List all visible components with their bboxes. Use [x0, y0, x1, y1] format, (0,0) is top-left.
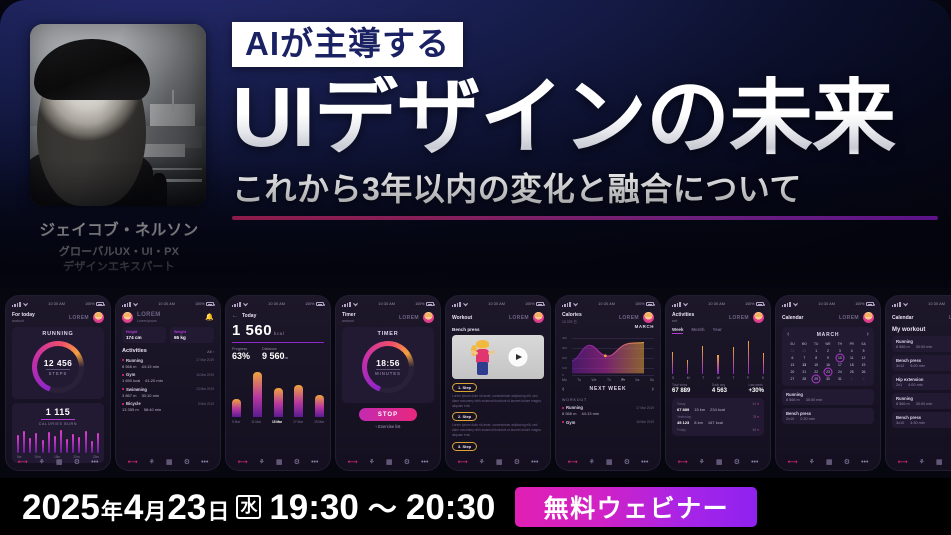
list-item[interactable]: Swimming13 Mar 2019 3 867 m30:10 min [122, 387, 214, 398]
list-item[interactable]: Gym16 Mar 2019 [562, 420, 654, 425]
dumbbell-icon[interactable]: ⟷ [458, 459, 468, 466]
phone-header-title: Calendar [782, 315, 803, 321]
distance-metric: Distance 9 560m [262, 347, 288, 361]
phone-header-title: Timer [342, 312, 356, 318]
footer-bar: 2025 年 4 月 23 日 水 19:30 〜 20:30 無料ウェビナー [0, 478, 951, 535]
steps-label: STEPS [49, 371, 68, 376]
gear-icon[interactable]: ⚙ [184, 459, 190, 466]
step-chip: 1. Step [452, 383, 477, 392]
more-icon[interactable]: ••• [861, 459, 868, 466]
step-chip: 2. Step [452, 412, 477, 421]
section-title: WORKOUT [562, 398, 654, 402]
dumbbell-icon[interactable]: ⟷ [788, 459, 798, 466]
timer-ring: 18:56 MINUTES [362, 341, 414, 393]
list-item[interactable]: Bicycle9 Mar 2019 13 355 m58:40 min [122, 401, 214, 412]
height-chip: Height 174 cm [122, 327, 166, 343]
more-icon[interactable]: ••• [421, 459, 428, 466]
brand-label: LOREM [399, 315, 419, 321]
gear-icon[interactable]: ⚙ [734, 459, 740, 466]
phone-mockup-my-workout[interactable]: 10:30 AM 100% Calendar LOREM My workout … [886, 296, 951, 470]
timer-label: MINUTES [375, 371, 401, 376]
speaker-role-line2: デザインエキスパート [30, 260, 208, 275]
phone-mockup-calendar[interactable]: 10:30 AM 100% Calendar LOREM ‹ MARCH › [776, 296, 880, 470]
brand-label: LOREM [137, 312, 161, 318]
accent-rule [232, 216, 938, 220]
day-labels: SMT WTFS [672, 376, 764, 380]
bottom-nav[interactable]: ⟷ ⚘ ▦ ⚙ ••• [336, 459, 440, 466]
wifi-icon [793, 303, 798, 307]
status-bar: 10:30 AM 100% [672, 300, 764, 308]
tab-week[interactable]: Week [672, 327, 683, 334]
bottom-nav[interactable]: ⟷ ⚘ ▦ ⚙ ••• [6, 459, 110, 466]
exercise-list-link[interactable]: ‹ Exercise list [342, 424, 434, 429]
kcal-value: 1 560kcal [232, 322, 324, 339]
wifi-icon [463, 303, 468, 307]
phone-header-sub: workout [342, 319, 356, 323]
wifi-icon [133, 303, 138, 307]
status-bar: 10:30 AM 100% [892, 300, 951, 308]
status-bar: 10:30 AM 100% [232, 300, 324, 308]
battery-icon [866, 302, 874, 306]
phone-header: Workout LOREM [452, 312, 544, 323]
phone-header-title: Today [242, 313, 256, 319]
calendar-icon[interactable]: ▦ [276, 459, 283, 466]
status-bar: 10:30 AM 100% [122, 300, 214, 308]
avatar[interactable] [122, 312, 133, 323]
dumbbell-icon[interactable]: ⟷ [18, 459, 28, 466]
calories-value: 1 115 [17, 407, 99, 417]
battery-icon [96, 302, 104, 306]
exercise-name: Bench press [452, 327, 544, 332]
weight-value: 65 kg [174, 335, 210, 340]
event-time-end: 20:30 [406, 488, 496, 528]
phone-header-title: Activities [672, 312, 694, 318]
workout-row[interactable]: Bench press 2x102:30 min [782, 408, 874, 424]
timer-card: TIMER 18:56 MINUTES [342, 327, 434, 403]
calendar-icon[interactable]: ▦ [936, 459, 943, 466]
speaker-block: ジェイコブ・ネルソン グローバルUX・UI・PX デザインエキスパート [30, 24, 208, 275]
bottom-nav[interactable]: ⟷ ⚘ ▦ ⚙ ••• [776, 459, 880, 466]
walk-icon[interactable]: ⚘ [39, 459, 45, 466]
battery-icon [646, 302, 654, 306]
battery-percent: 100% [635, 302, 644, 306]
phone-mockup-calories-chart[interactable]: 10:30 AM 100% Calories 10 378 日 LOREM MA… [556, 296, 660, 470]
next-arrow-icon[interactable]: › [652, 386, 654, 393]
workout-row[interactable]: Hip extension 2x14:00 min [892, 374, 951, 390]
step-body: Lorem ipsum dolor sit amet, consectetuer… [452, 423, 544, 437]
list-item[interactable]: Running17 Mar 2019 8 566 m44:13 min [562, 405, 654, 416]
next-week-row[interactable]: ‹ NEXT WEEK › [562, 386, 654, 393]
workout-row[interactable]: Running 8 566 m30:00 min [892, 393, 951, 409]
eyebrow-badge: AIが主導する [232, 22, 463, 67]
heart-icon: ♥ [757, 428, 759, 432]
battery-percent: 100% [855, 302, 864, 306]
timer-value: 18:56 [376, 358, 400, 368]
brand-label: LOREM [729, 315, 749, 321]
status-bar: 10:30 AM 100% [342, 300, 434, 308]
weekday-badge: 水 [236, 495, 261, 519]
event-time-start: 19:30 [269, 488, 359, 528]
list-item[interactable]: Running17 Mar 2019 8 566 m44:13 min [122, 358, 214, 369]
calendar-icon[interactable]: ▦ [166, 459, 173, 466]
calendar-weekdays: SUMOTU WETHFRSA [787, 342, 869, 346]
wifi-icon [573, 303, 578, 307]
battery-icon [206, 302, 214, 306]
step-body: Lorem ipsum dolor sit amet, consectetuer… [452, 394, 544, 408]
summary-stats: Total steps67 889 Daily avg4 563 Last we… [672, 383, 764, 394]
wifi-icon [683, 303, 688, 307]
avatar[interactable] [533, 312, 544, 323]
tab-month[interactable]: Month [691, 327, 704, 334]
phone-mockup-today[interactable]: 10:30 AM 100% ← Today 1 560kcal Progress… [226, 296, 330, 470]
hero-section: ジェイコブ・ネルソン グローバルUX・UI・PX デザインエキスパート AIが主… [0, 0, 951, 290]
phone-header: Activities всё LOREM [672, 312, 764, 323]
phone-header: LOREM Lorem ipsum 🔔 [122, 312, 214, 323]
walk-icon[interactable]: ⚘ [479, 459, 485, 466]
status-time: 10:30 AM [928, 302, 945, 306]
prev-arrow-icon[interactable]: ‹ [562, 386, 564, 393]
bottom-nav[interactable]: ⟷ ⚘ ▦ ⚙ ••• [226, 459, 330, 466]
phone-mockup-activities[interactable]: 10:30 AM 100% Activities всё LOREM Week … [666, 296, 770, 470]
battery-icon [756, 302, 764, 306]
walk-icon[interactable]: ⚘ [589, 459, 595, 466]
day-unit: 日 [207, 494, 229, 526]
speaker-role-line1: グローバルUX・UI・PX [30, 245, 208, 260]
running-card: RUNNING 12 456 STEPS [12, 327, 104, 399]
dumbbell-icon[interactable]: ⟷ [678, 459, 688, 466]
status-time: 10:30 AM [158, 302, 175, 306]
status-time: 10:30 AM [708, 302, 725, 306]
phone-header-title: For today [12, 312, 35, 318]
chart-x-axis: MoTuWe ThFr SaSu [562, 378, 654, 382]
battery-percent: 100% [745, 302, 754, 306]
period-tabs[interactable]: Week Month Year [672, 327, 764, 334]
status-bar: 10:30 AM 100% [452, 300, 544, 308]
more-icon[interactable]: ••• [751, 459, 758, 466]
gear-icon[interactable]: ⚙ [514, 459, 520, 466]
phone-header-title: Calories [562, 312, 582, 318]
bottom-nav[interactable]: ⟷ ⚘ ▦ ⚙ ••• [886, 459, 951, 466]
calendar-icon[interactable]: ▦ [496, 459, 503, 466]
month-label: MARCH [562, 324, 654, 329]
speaker-name: ジェイコブ・ネルソン [30, 218, 208, 240]
title-block: AIが主導する UIデザインの未来 これから3年以内の変化と融合について [232, 22, 937, 220]
more-icon[interactable]: ••• [201, 459, 208, 466]
brand-label: LOREM [509, 315, 529, 321]
more-icon[interactable]: ••• [641, 459, 648, 466]
next-week-label: NEXT WEEK [590, 386, 627, 392]
heart-icon: ♥ [757, 415, 759, 419]
brand-label: LOREM [839, 315, 859, 321]
bottom-nav[interactable]: ⟷ ⚘ ▦ ⚙ ••• [446, 459, 550, 466]
section-title: My workout [892, 327, 951, 333]
calendar-icon[interactable]: ▦ [386, 459, 393, 466]
battery-icon [316, 302, 324, 306]
month-unit: 月 [144, 494, 166, 526]
status-bar: 10:30 AM 100% [12, 300, 104, 308]
avatar[interactable] [863, 312, 874, 323]
exercise-video[interactable] [452, 335, 544, 379]
phone-header: Calories 10 378 日 LOREM [562, 312, 654, 324]
wifi-icon [243, 303, 248, 307]
gear-icon[interactable]: ⚙ [624, 459, 630, 466]
weight-chip: Weight 65 kg [170, 327, 214, 343]
phone-mockup-timer[interactable]: 10:30 AM 100% Timer workout LOREM TIMER [336, 296, 440, 470]
phone-mockup-profile[interactable]: 10:30 AM 100% LOREM Lorem ipsum 🔔 [116, 296, 220, 470]
status-time: 10:30 AM [598, 302, 615, 306]
battery-icon [426, 302, 434, 306]
speaker-photo [30, 24, 206, 206]
wifi-icon [903, 303, 908, 307]
bottom-nav[interactable]: ⟷ ⚘ ▦ ⚙ ••• [556, 459, 660, 466]
workout-row[interactable]: Running 8 566 m30:00 min [782, 389, 874, 405]
status-time: 10:30 AM [488, 302, 505, 306]
heart-icon: ♥ [757, 402, 759, 406]
month-label: MARCH [817, 332, 840, 338]
time-separator: 〜 [368, 486, 397, 528]
dumbbell-icon[interactable]: ⟷ [128, 459, 138, 466]
next-month-icon[interactable]: › [867, 331, 869, 338]
status-time: 10:30 AM [378, 302, 395, 306]
height-label: Height [126, 330, 162, 334]
battery-percent: 100% [85, 302, 94, 306]
phone-header-title: Workout [452, 315, 472, 321]
phone-header: Timer workout LOREM [342, 312, 434, 323]
workout-row[interactable]: Bench press 3x125:00 min [892, 355, 951, 371]
dumbbell-icon[interactable]: ⟷ [348, 459, 358, 466]
brand-label: LOREM [69, 315, 89, 321]
more-icon[interactable]: ••• [311, 459, 318, 466]
more-icon[interactable]: ••• [91, 459, 98, 466]
phone-header: Calendar LOREM [782, 312, 874, 323]
battery-percent: 100% [415, 302, 424, 306]
history-card: Today 61 ♥ 67 88915 km234 kcal Yesterday… [672, 398, 764, 436]
gear-icon[interactable]: ⚙ [404, 459, 410, 466]
status-time: 10:30 AM [818, 302, 835, 306]
event-month: 4 [124, 488, 143, 528]
battery-percent: 100% [305, 302, 314, 306]
walk-icon[interactable]: ⚘ [149, 459, 155, 466]
area-path [572, 332, 644, 376]
walk-icon[interactable]: ⚘ [919, 459, 925, 466]
card-title: RUNNING [17, 331, 99, 337]
weight-label: Weight [174, 330, 210, 334]
walk-icon[interactable]: ⚘ [699, 459, 705, 466]
card-title: TIMER [347, 331, 429, 337]
calories-bars [17, 429, 99, 453]
calendar-icon[interactable]: ▦ [716, 459, 723, 466]
walk-icon[interactable]: ⚘ [809, 459, 815, 466]
progress-metric: Progress 63% [232, 347, 250, 361]
walk-icon[interactable]: ⚘ [369, 459, 375, 466]
steps-value: 12 456 [44, 358, 72, 368]
phone-header: Calendar LOREM [892, 312, 951, 323]
dumbbell-icon[interactable]: ⟷ [898, 459, 908, 466]
page-subtitle: これから3年以内の変化と融合について [232, 164, 937, 210]
gear-icon[interactable]: ⚙ [74, 459, 80, 466]
steps-ring: 12 456 STEPS [32, 341, 84, 393]
illustration-figure [472, 341, 494, 375]
tab-year[interactable]: Year [713, 327, 722, 334]
calories-label: CALORIES BURN [17, 422, 99, 426]
bottom-nav[interactable]: ⟷ ⚘ ▦ ⚙ ••• [666, 459, 770, 466]
year-unit: 年 [101, 494, 123, 526]
dumbbell-icon[interactable]: ⟷ [238, 459, 248, 466]
weekly-spikes-chart [672, 338, 764, 374]
brand-label: LOREM [619, 315, 639, 321]
free-webinar-badge[interactable]: 無料ウェビナー [515, 487, 757, 527]
phone-mockup-running[interactable]: 10:30 AM 100% For today workout LOREM RU… [6, 296, 110, 470]
bottom-nav[interactable]: ⟷ ⚘ ▦ ⚙ ••• [116, 459, 220, 466]
poster-stage: ジェイコブ・ネルソン グローバルUX・UI・PX デザインエキスパート AIが主… [0, 0, 951, 535]
activities-section-header: Activities All › [122, 348, 214, 354]
phone-header: For today workout LOREM [12, 312, 104, 323]
play-icon[interactable] [510, 349, 526, 365]
section-title: Activities [122, 348, 147, 354]
calendar-icon[interactable]: ▦ [826, 459, 833, 466]
avatar[interactable] [423, 312, 434, 323]
wifi-icon [353, 303, 358, 307]
section-link[interactable]: All › [207, 349, 214, 354]
calories-area-chart: 400 300 200 100 0 [562, 332, 654, 376]
bell-icon[interactable]: 🔔 [205, 314, 214, 321]
gear-icon[interactable]: ⚙ [844, 459, 850, 466]
step-chip: 3. Step [452, 442, 477, 451]
battery-percent: 100% [525, 302, 534, 306]
dumbbell-icon[interactable]: ⟷ [568, 459, 578, 466]
event-day: 23 [167, 488, 206, 528]
status-time: 10:30 AM [48, 302, 65, 306]
calories-card: 1 115 CALORIES BURN 5m10m15m20m25m [12, 403, 104, 463]
battery-percent: 100% [195, 302, 204, 306]
back-arrow-icon[interactable]: ← [232, 313, 238, 319]
avatar[interactable] [93, 312, 104, 323]
workout-row[interactable]: Running 8 566 m30:00 min [892, 336, 951, 352]
event-year: 2025 [22, 488, 100, 528]
gear-icon[interactable]: ⚙ [294, 459, 300, 466]
height-value: 174 cm [126, 335, 162, 340]
bar-axis: 9 Mar11 Mar 15 Mar 17 Mar19 Mar [232, 420, 324, 424]
phone-header-sub: всё [672, 319, 694, 323]
prev-month-icon[interactable]: ‹ [787, 331, 789, 338]
phone-mockup-strip: 10:30 AM 100% For today workout LOREM RU… [0, 288, 951, 478]
battery-icon [536, 302, 544, 306]
status-bar: 10:30 AM 100% [562, 300, 654, 308]
phone-header-sub: workout [12, 319, 35, 323]
phone-mockup-workout[interactable]: 10:30 AM 100% Workout LOREM Bench press [446, 296, 550, 470]
brand-sub: Lorem ipsum [137, 319, 161, 323]
calendar-grid[interactable]: 242512345 6789101112 13131516171819 2021… [787, 348, 869, 382]
event-datetime: 2025 年 4 月 23 日 水 19:30 〜 20:30 [22, 486, 495, 528]
calendar-card[interactable]: ‹ MARCH › SUMOTU WETHFRSA 242512345 6789… [782, 327, 874, 386]
daily-bar-chart [232, 365, 324, 417]
walk-icon[interactable]: ⚘ [259, 459, 265, 466]
workout-row[interactable]: Bench press 3x104:30 min [892, 412, 951, 428]
avatar[interactable] [753, 312, 764, 323]
calendar-icon[interactable]: ▦ [56, 459, 63, 466]
phone-header-title: Calendar [892, 315, 913, 321]
phone-header-sub: 10 378 日 [562, 319, 582, 324]
list-item[interactable]: Gym16 Mar 2019 1 650 kcal61:20 min [122, 372, 214, 383]
status-bar: 10:30 AM 100% [782, 300, 874, 308]
wifi-icon [23, 303, 28, 307]
more-icon[interactable]: ••• [531, 459, 538, 466]
avatar[interactable] [643, 312, 654, 323]
calendar-icon[interactable]: ▦ [606, 459, 613, 466]
page-title: UIデザインの未来 [232, 76, 937, 158]
stop-button[interactable]: STOP [359, 408, 417, 421]
status-time: 10:30 AM [268, 302, 285, 306]
